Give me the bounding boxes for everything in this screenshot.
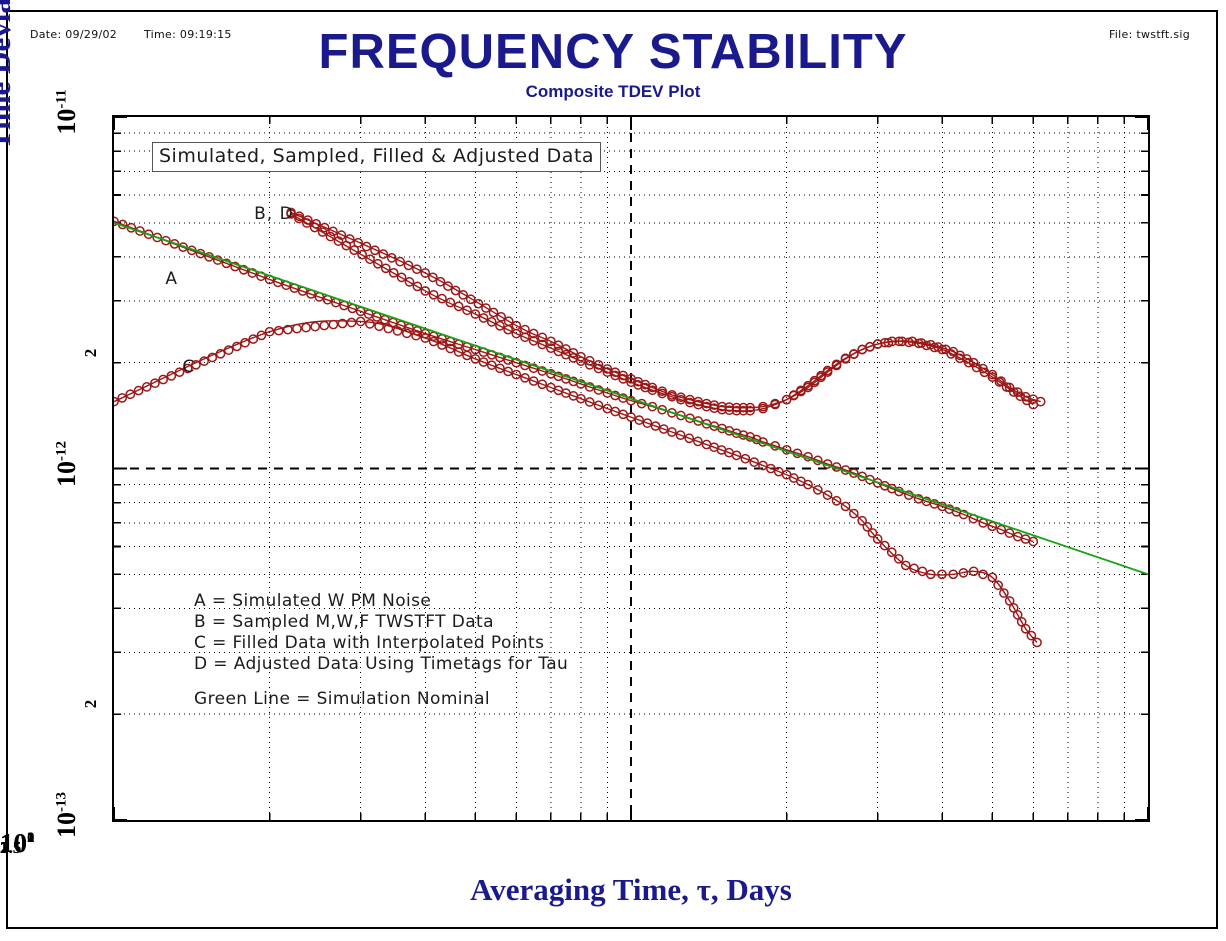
series-3 — [287, 210, 1037, 415]
y-tick-label: 2 — [81, 330, 101, 376]
note-line-a: A = Simulated W PM Noise — [194, 591, 431, 611]
y-tick-label: 2 — [81, 681, 101, 727]
legend-box: Simulated, Sampled, Filled & Adjusted Da… — [152, 142, 601, 172]
screenshot-page: Date: 09/29/02 Time: 09:19:15 File: twst… — [0, 0, 1226, 941]
note-line-green: Green Line = Simulation Nominal — [194, 689, 490, 709]
page-subtitle: Composite TDEV Plot — [0, 82, 1226, 102]
plot-area: Simulated, Sampled, Filled & Adjusted Da… — [112, 115, 1150, 822]
note-line-b: B = Sampled M,W,F TWSTFT Data — [194, 612, 494, 632]
x-axis-title: Averaging Time, τ, Days — [112, 872, 1150, 908]
x-tick-label: 102 — [0, 828, 35, 859]
y-tick-label: 10-11 — [52, 89, 82, 135]
series-0 — [114, 217, 1037, 545]
curve-label-a: A — [165, 269, 178, 289]
notes-block: A = Simulated W PM Noise B = Sampled M,W… — [194, 591, 568, 710]
note-line-c: C = Filled Data with Interpolated Points — [194, 633, 544, 653]
page-title: FREQUENCY STABILITY — [0, 28, 1226, 77]
y-axis-title: Time Deviation, σx(τ), Seconds — [0, 0, 20, 150]
curve-label-c: C — [182, 357, 195, 377]
y-tick-label: 10-12 — [52, 441, 82, 487]
note-line-d: D = Adjusted Data Using Timetags for Tau — [194, 654, 568, 674]
series-1 — [287, 208, 1045, 411]
notes-spacer — [194, 675, 568, 689]
curve-label-bd: B, D — [254, 204, 294, 224]
y-tick-label: 10-13 — [52, 792, 82, 838]
